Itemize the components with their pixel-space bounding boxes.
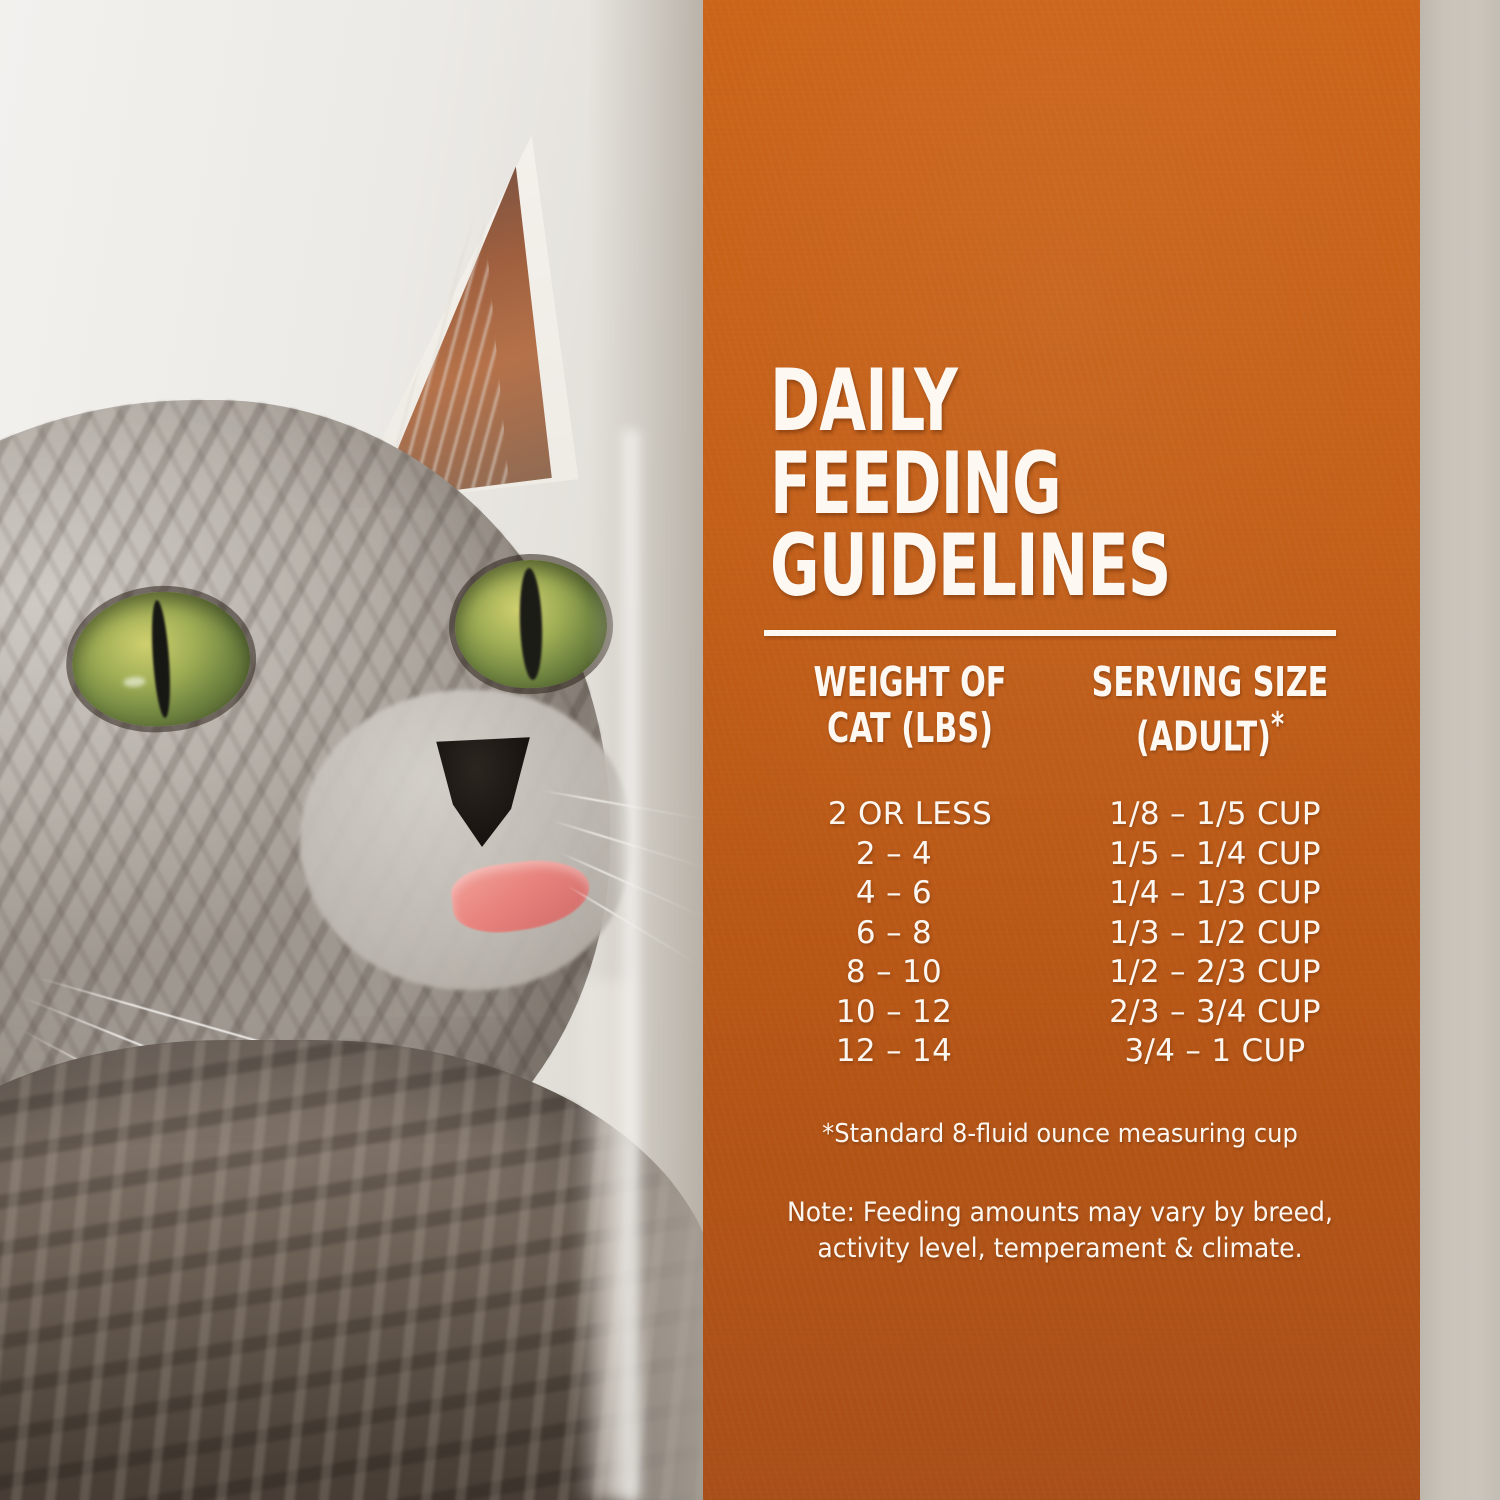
title-divider [764, 630, 1336, 636]
table-row-serving-6: 3/4 – 1 CUP [1060, 1032, 1360, 1072]
table-row-serving-4: 1/2 – 2/3 CUP [1060, 953, 1360, 993]
cat-eye-glint-left [123, 676, 146, 688]
table-row-serving-2: 1/4 – 1/3 CUP [1060, 874, 1360, 914]
cat-muzzle [300, 690, 630, 990]
feeding-table-header: WEIGHT OF CAT (LBS) SERVING SIZE (ADULT)… [760, 660, 1360, 778]
guidelines-panel: DAILY FEEDING GUIDELINES WEIGHT OF CAT (… [703, 0, 1420, 1500]
column-header-serving: SERVING SIZE (ADULT)* [1087, 660, 1333, 778]
footnote-measuring-cup: *Standard 8-fluid ounce measuring cup [781, 1118, 1339, 1151]
cat-pupil-right [518, 567, 544, 680]
column-header-serving-text: SERVING SIZE (ADULT) [1092, 658, 1329, 761]
table-row-weight-0: 2 OR LESS [760, 795, 1060, 835]
table-row-weight-6: 12 – 14 [760, 1032, 1060, 1072]
table-row-weight-5: 10 – 12 [760, 993, 1060, 1033]
cat-pupil-left [149, 600, 173, 719]
table-row-serving-5: 2/3 – 3/4 CUP [1060, 993, 1360, 1033]
wall-edge-shadow [588, 0, 706, 1500]
table-row-weight-2: 4 – 6 [760, 874, 1060, 914]
right-edge-strip [1420, 0, 1500, 1500]
feeding-table-rows: 2 OR LESS 1/8 – 1/5 CUP 2 – 4 1/5 – 1/4 … [760, 795, 1360, 1072]
table-row-serving-3: 1/3 – 1/2 CUP [1060, 914, 1360, 954]
table-row-weight-1: 2 – 4 [760, 835, 1060, 875]
table-row-weight-4: 8 – 10 [760, 953, 1060, 993]
footnote-asterisk-marker: * [1271, 705, 1284, 745]
page-title: DAILY FEEDING GUIDELINES [770, 360, 1222, 608]
cat-photo [0, 0, 706, 1500]
note-feeding-variance: Note: Feeding amounts may vary by breed,… [781, 1195, 1339, 1267]
feeding-guidelines-infographic: DAILY FEEDING GUIDELINES WEIGHT OF CAT (… [0, 0, 1500, 1500]
column-header-weight: WEIGHT OF CAT (LBS) [787, 660, 1033, 778]
table-row-serving-0: 1/8 – 1/5 CUP [1060, 795, 1360, 835]
table-row-weight-3: 6 – 8 [760, 914, 1060, 954]
table-row-serving-1: 1/5 – 1/4 CUP [1060, 835, 1360, 875]
wall-sheen [618, 430, 644, 1500]
panel-content: DAILY FEEDING GUIDELINES WEIGHT OF CAT (… [760, 0, 1360, 1500]
